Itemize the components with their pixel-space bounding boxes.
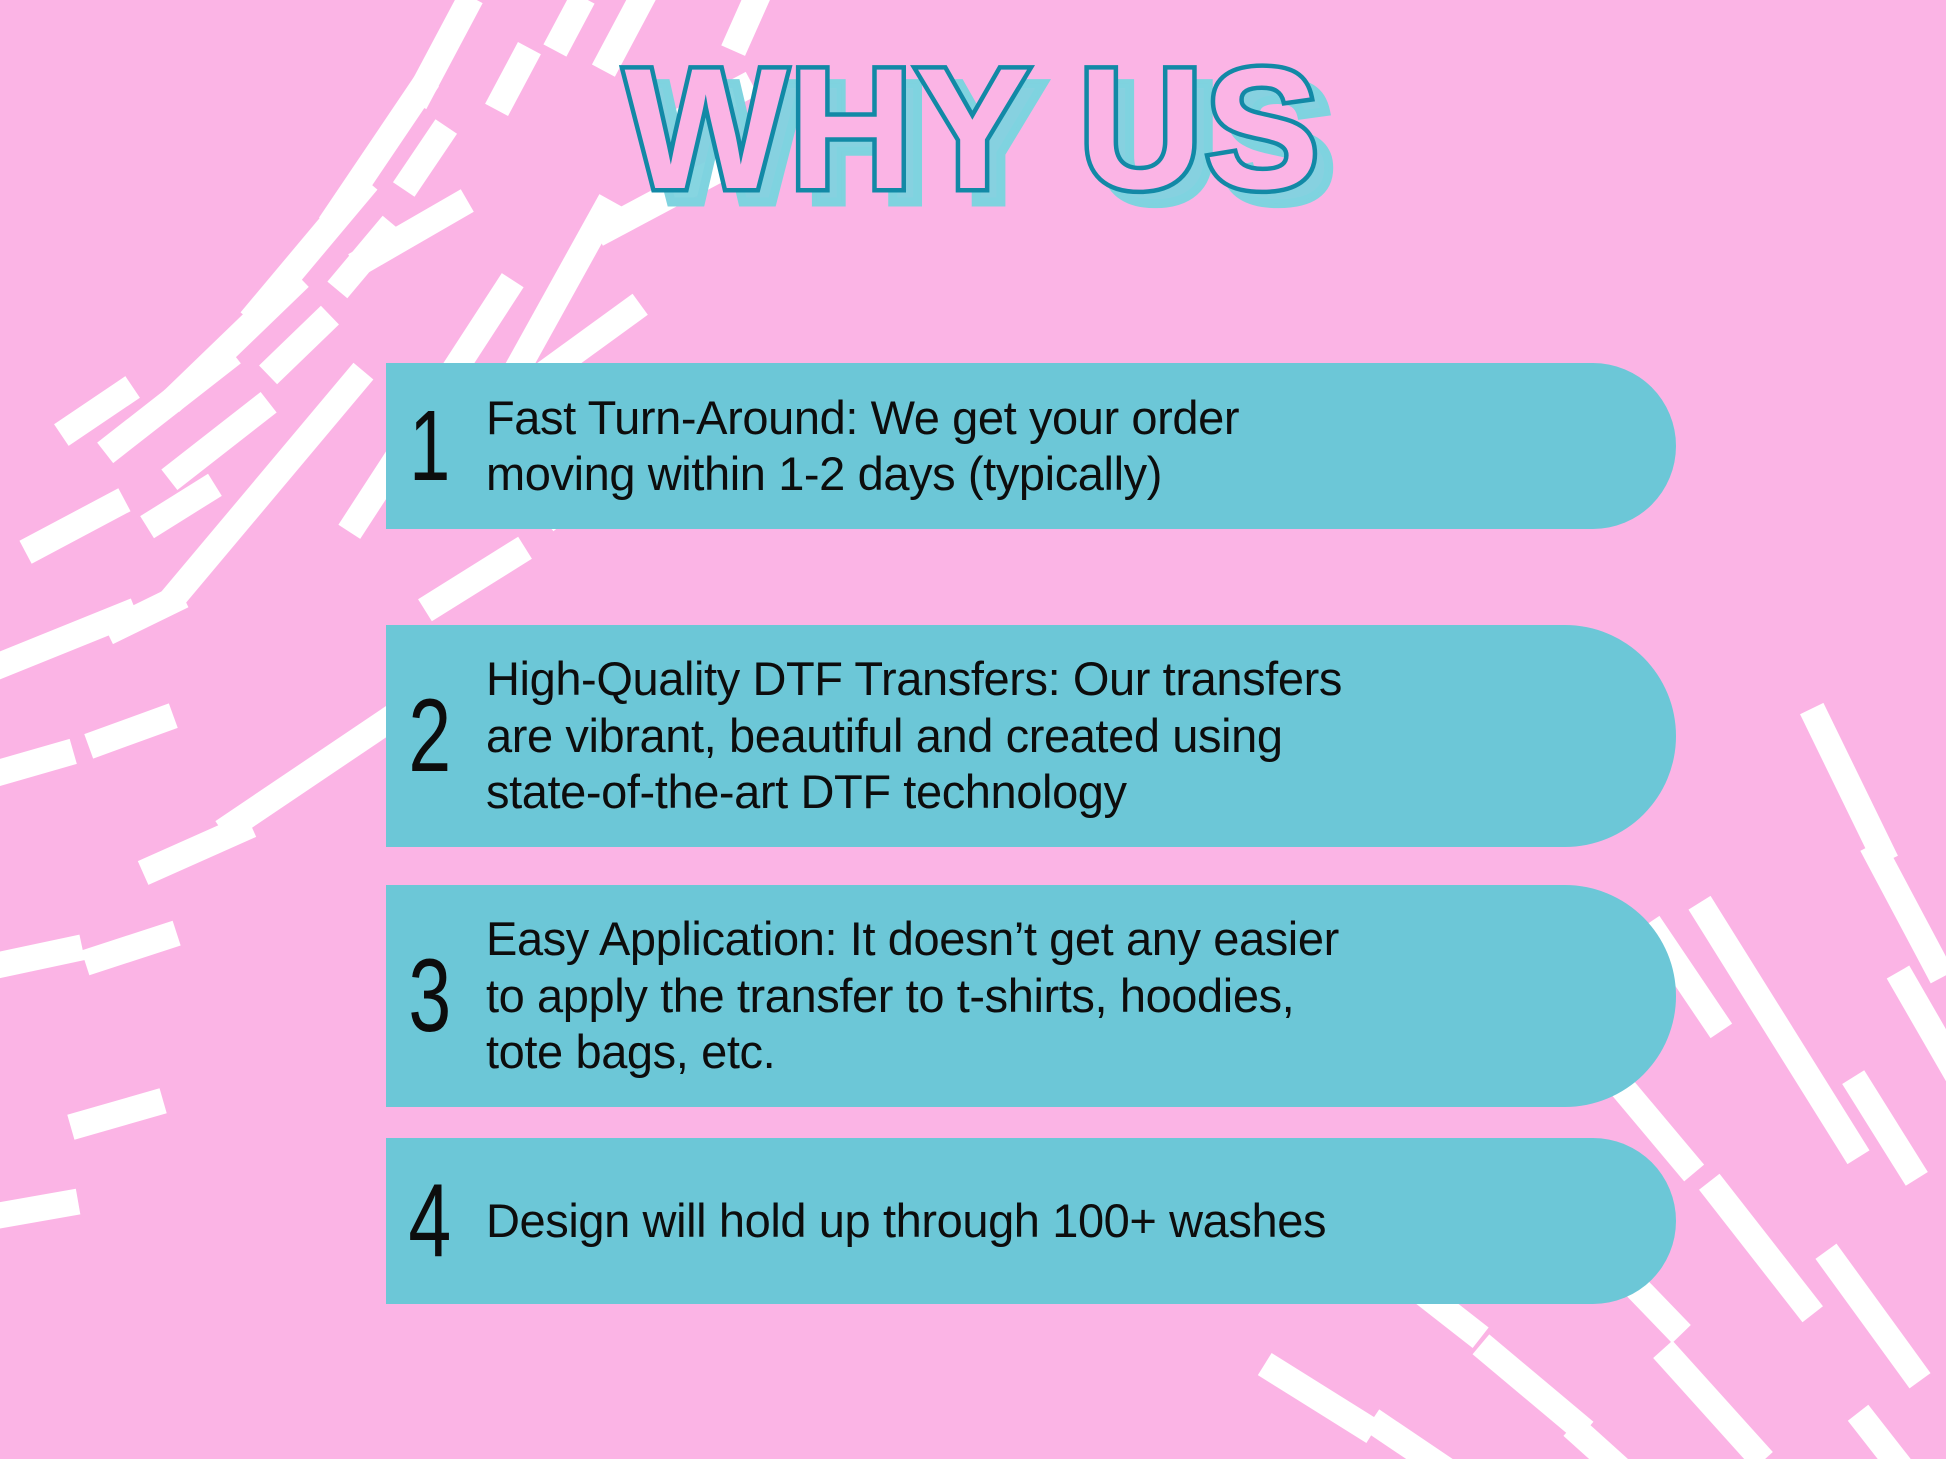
benefit-card-3-line-1: Easy Application: It doesn’t get any eas… (486, 911, 1636, 967)
poster-canvas: WHY US WHY US WHY US WHY US 1 Fast Turn-… (0, 0, 1946, 1459)
benefit-card-1-line-2: moving within 1-2 days (typically) (486, 446, 1636, 502)
benefit-card-4-text: Design will hold up through 100+ washes (472, 1193, 1676, 1249)
benefit-card-2-number: 2 (397, 684, 461, 788)
benefit-card-2-text: High-Quality DTF Transfers: Our transfer… (472, 651, 1676, 820)
benefit-card-3-number: 3 (397, 944, 461, 1048)
benefit-card-3-text: Easy Application: It doesn’t get any eas… (472, 911, 1676, 1080)
benefit-card-3-line-2: to apply the transfer to t-shirts, hoodi… (486, 968, 1636, 1024)
benefit-card-4: 4 Design will hold up through 100+ washe… (386, 1138, 1676, 1304)
benefit-card-2: 2 High-Quality DTF Transfers: Our transf… (386, 625, 1676, 847)
benefit-card-2-line-3: state-of-the-art DTF technology (486, 764, 1636, 820)
page-title-inner-outline: WHY US (625, 38, 1322, 225)
page-title: WHY US WHY US WHY US WHY US (0, 38, 1946, 228)
benefit-card-4-line-1: Design will hold up through 100+ washes (486, 1193, 1636, 1249)
page-title-svg: WHY US WHY US WHY US WHY US (523, 38, 1423, 228)
benefit-card-4-number: 4 (397, 1169, 461, 1273)
benefit-card-3: 3 Easy Application: It doesn’t get any e… (386, 885, 1676, 1107)
benefit-card-1-line-1: Fast Turn-Around: We get your order (486, 390, 1636, 446)
benefit-card-3-line-3: tote bags, etc. (486, 1024, 1636, 1080)
benefit-card-1-number: 1 (397, 396, 461, 496)
benefit-card-2-line-2: are vibrant, beautiful and created using (486, 708, 1636, 764)
benefit-card-1: 1 Fast Turn-Around: We get your order mo… (386, 363, 1676, 529)
benefit-card-2-line-1: High-Quality DTF Transfers: Our transfer… (486, 651, 1636, 707)
benefit-card-1-text: Fast Turn-Around: We get your order movi… (472, 390, 1676, 503)
